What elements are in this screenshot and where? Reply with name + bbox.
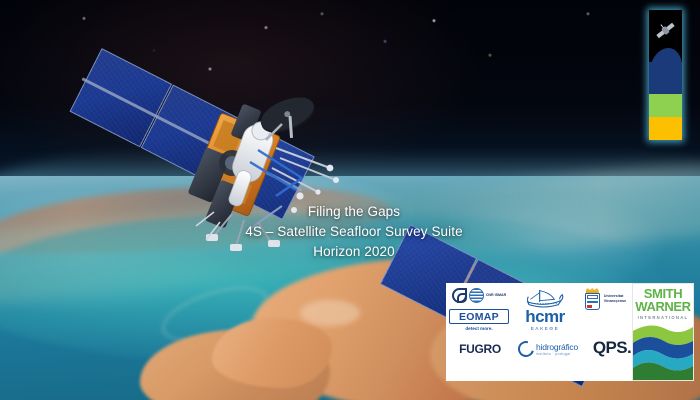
satellite-icon [653,18,678,43]
eomap-logo: EOMAP detect more. [448,308,510,332]
logo-grid: CNR ISMAR EOMAP detect more. FUGRO [446,283,632,381]
coat-of-arms-icon [584,288,601,310]
hidrografico-logo: hidrográfico instituto · portugal [508,337,588,361]
title-line-1: Filing the Gaps [218,202,490,222]
badge-sea [649,62,682,94]
title-line-2: 4S – Satellite Seafloor Survey Suite [218,222,490,242]
universitat-logo: Universitat Vinaroçense [572,286,638,312]
hidrografico-wave-icon [515,338,537,360]
hidrografico-wordmark: hidrográfico [536,342,578,352]
fugro-logo: FUGRO [450,339,510,359]
ancient-ship-icon [525,287,565,309]
cnr-mark-icon [452,288,467,303]
cnr-ismar-logo: CNR ISMAR [450,285,508,305]
title-line-3: Horizon 2020 [218,242,490,262]
fugro-wordmark: FUGRO [459,342,501,356]
partner-logos-panel: CNR ISMAR EOMAP detect more. FUGRO [446,283,694,381]
cnr-ismar-label: CNR ISMAR [486,293,506,297]
eomap-tagline: detect more. [465,326,492,331]
eomap-wordmark: EOMAP [449,309,509,324]
qps-wordmark: QPS. [593,338,631,358]
wave-bands-icon [633,321,693,381]
hcmr-greek-label: ΕΛΚΕΘΕ [531,326,560,331]
ismar-globe-icon [469,288,484,303]
badge-yellow-band [649,117,682,140]
hidrografico-subtext: instituto · portugal [536,352,578,356]
presentation-slide: Filing the Gaps 4S – Satellite Seafloor … [0,0,700,400]
smith-warner-wordmark: SMITH WARNER [633,288,693,313]
smith-warner-subtext: INTERNATIONAL [633,315,693,320]
slide-title: Filing the Gaps 4S – Satellite Seafloor … [218,202,490,262]
hidrografico-text: hidrográfico instituto · portugal [536,342,578,356]
hcmr-wordmark: hcmr [525,309,565,325]
project-badge [649,10,682,140]
shield-icon [585,293,600,310]
universitat-label: Universitat Vinaroçense [604,294,627,303]
badge-green-band [649,94,682,117]
hcmr-logo: hcmr ΕΛΚΕΘΕ [514,285,576,333]
smith-warner-logo: SMITH WARNER INTERNATIONAL [632,283,694,381]
